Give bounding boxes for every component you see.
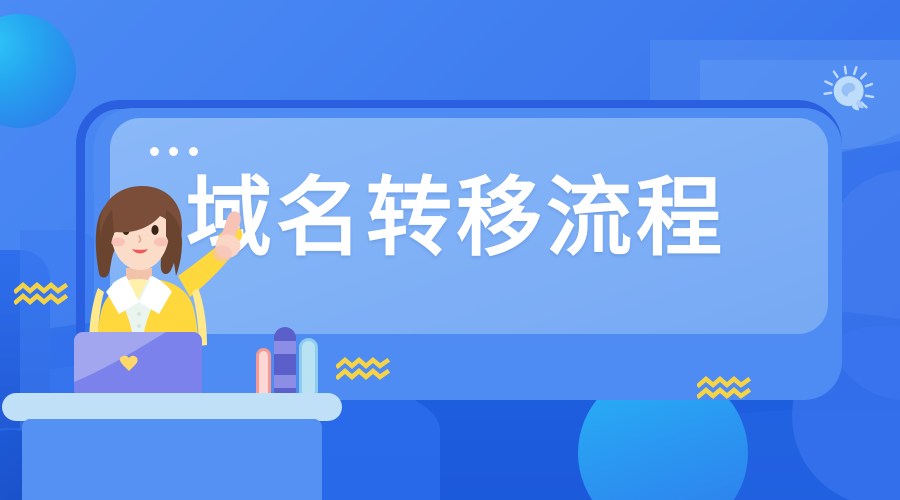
zigzag-icon-right xyxy=(697,375,751,401)
desk-front-panel xyxy=(22,419,322,500)
banner-root: 域名转移流程 xyxy=(0,0,900,500)
window-dot-3 xyxy=(189,147,198,156)
circle-top-left xyxy=(0,14,76,128)
pen-purple-band-bottom xyxy=(274,375,296,388)
window-dot-1 xyxy=(150,147,159,156)
pen-purple xyxy=(274,327,296,401)
laptop xyxy=(72,330,204,400)
desk-surface xyxy=(2,393,342,421)
zigzag-icon-center xyxy=(336,356,390,382)
pen-purple-band-top xyxy=(274,341,296,354)
window-dot-2 xyxy=(169,147,178,156)
pen-blue xyxy=(299,338,318,400)
window-dots xyxy=(150,143,210,155)
